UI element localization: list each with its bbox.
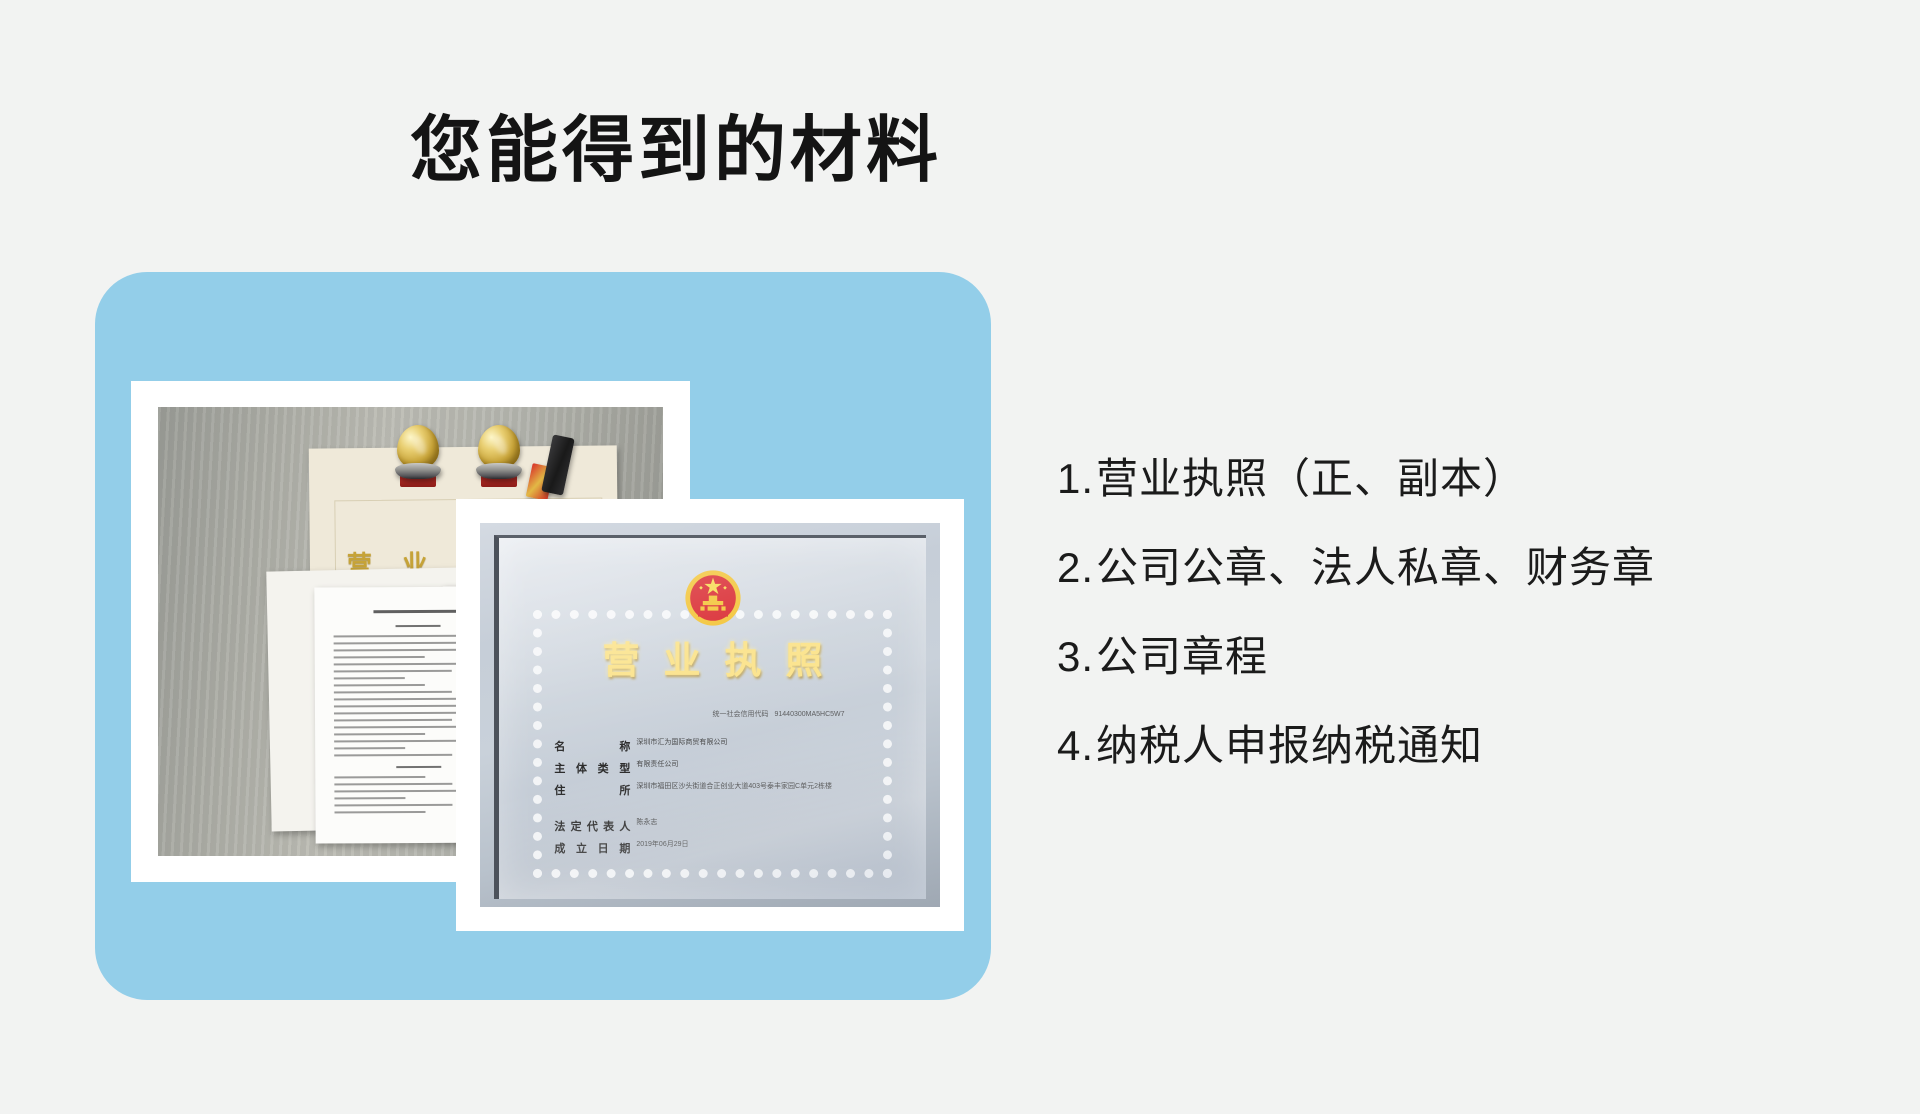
label-char: 称 — [619, 738, 630, 754]
label-char: 所 — [619, 782, 630, 798]
label-char: 名 — [554, 738, 565, 754]
label-char: 型 — [619, 760, 630, 776]
seal-collar — [476, 463, 522, 479]
license-field-value: 陈永志 — [636, 818, 657, 827]
label-char: 主 — [554, 760, 565, 776]
license-field-label: 主 体 类 型 — [554, 760, 630, 776]
gold-seal-icon — [395, 425, 441, 487]
list-item-number: 3. — [1057, 636, 1094, 678]
license-field-label: 名 称 — [554, 738, 630, 754]
label-char: 成 — [554, 840, 565, 856]
license-field-establish-date: 成 立 日 期 2019年06月29日 — [554, 840, 879, 856]
license-field-value: 有限责任公司 — [636, 760, 678, 769]
license-credit-code: 统一社会信用代码 91440300MA5HC5W7 — [713, 709, 901, 719]
list-item: 1. 营业执照（正、副本） — [1057, 458, 1887, 500]
list-item-label: 公司章程 — [1096, 636, 1268, 678]
license-field-value: 2019年06月29日 — [636, 840, 688, 849]
list-item-label: 公司公章、法人私章、财务章 — [1096, 547, 1655, 589]
license-field-address: 住 所 深圳市福田区沙头街道合正创业大道403号泰丰家园C单元2栋楼 — [554, 782, 879, 798]
license-title-char-4: 照 — [786, 642, 823, 679]
list-item: 2. 公司公章、法人私章、财务章 — [1057, 547, 1887, 589]
label-char: 代 — [587, 818, 598, 834]
label-char: 期 — [619, 840, 630, 856]
list-item: 3. 公司章程 — [1057, 636, 1887, 678]
photo-business-license: 营 业 执 照 统一社会信用代码 91440300MA5HC5W7 名 称 深圳… — [480, 523, 940, 907]
page-title: 您能得到的材料 — [0, 112, 1352, 191]
license-field-legal-representative: 法 定 代 表 人 陈永志 — [554, 818, 879, 834]
label-char: 体 — [576, 760, 587, 776]
license-title-char-1: 营 — [603, 642, 640, 679]
national-emblem-icon — [683, 568, 743, 628]
list-item-number: 1. — [1057, 458, 1094, 500]
photo-frame-license: 营 业 执 照 统一社会信用代码 91440300MA5HC5W7 名 称 深圳… — [456, 499, 964, 931]
label-char: 人 — [619, 818, 630, 834]
label-char: 法 — [554, 818, 565, 834]
license-field-entity-type: 主 体 类 型 有限责任公司 — [554, 760, 879, 776]
list-item-number: 2. — [1057, 547, 1094, 589]
materials-list: 1. 营业执照（正、副本） 2. 公司公章、法人私章、财务章 3. 公司章程 4… — [1057, 458, 1887, 814]
license-field-label: 成 立 日 期 — [554, 840, 630, 856]
license-credit-code-label: 统一社会信用代码 — [713, 709, 769, 719]
license-field-name: 名 称 深圳市汇为国际商贸有限公司 — [554, 738, 879, 754]
license-title: 营 业 执 照 — [603, 642, 823, 679]
license-glass-frame: 营 业 执 照 统一社会信用代码 91440300MA5HC5W7 名 称 深圳… — [494, 535, 926, 900]
list-item-label: 营业执照（正、副本） — [1096, 458, 1526, 500]
seal-collar — [395, 463, 441, 479]
list-item-label: 纳税人申报纳税通知 — [1096, 725, 1483, 767]
license-field-label: 法 定 代 表 人 — [554, 818, 630, 834]
list-item-number: 4. — [1057, 725, 1094, 767]
license-credit-code-value: 91440300MA5HC5W7 — [775, 711, 845, 718]
license-title-char-2: 业 — [664, 642, 701, 679]
label-char: 日 — [598, 840, 609, 856]
label-char: 立 — [576, 840, 587, 856]
license-field-value: 深圳市汇为国际商贸有限公司 — [636, 738, 727, 747]
license-field-label: 住 所 — [554, 782, 630, 798]
list-item: 4. 纳税人申报纳税通知 — [1057, 725, 1887, 767]
license-field-value: 深圳市福田区沙头街道合正创业大道403号泰丰家园C单元2栋楼 — [636, 782, 832, 791]
label-char: 住 — [554, 782, 565, 798]
label-char: 表 — [603, 818, 614, 834]
license-title-char-3: 执 — [725, 642, 762, 679]
gold-seal-icon — [476, 425, 522, 487]
label-char: 定 — [571, 818, 582, 834]
label-char: 类 — [598, 760, 609, 776]
